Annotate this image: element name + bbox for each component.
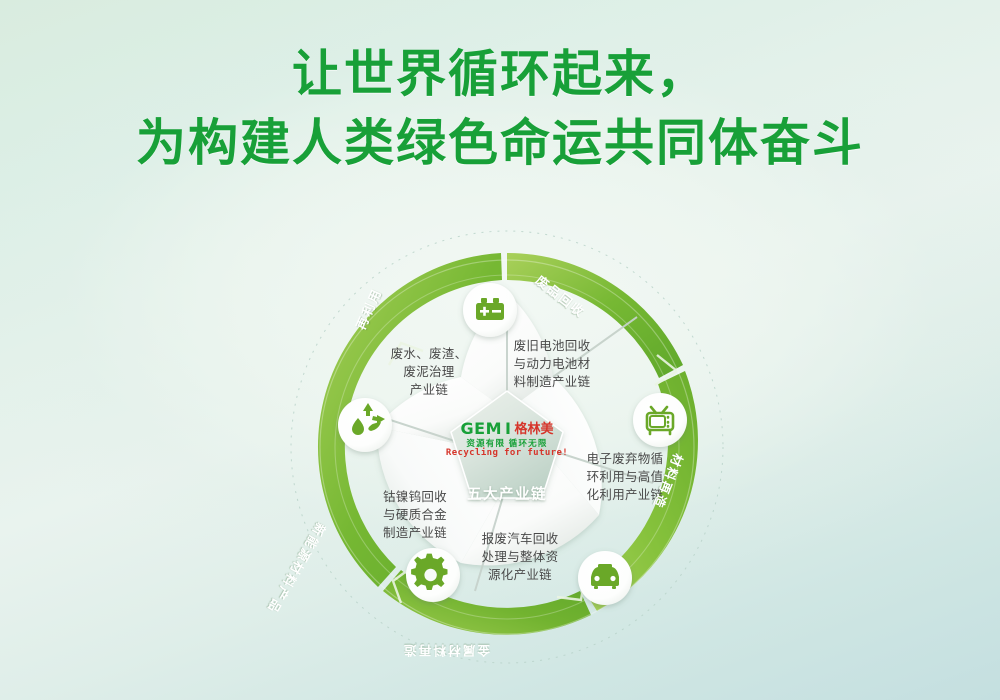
logo-gem-mark: GEM bbox=[461, 421, 502, 437]
page-title-line-2: 为构建人类绿色命运共同体奋斗 bbox=[0, 113, 1000, 174]
industry-chain-label-battery: 废旧电池回收 与动力电池材 料制造产业链 bbox=[500, 337, 604, 391]
icon-circle-recycle-water[interactable] bbox=[338, 398, 392, 452]
logo-wordmark-row: GEMI 格林美 bbox=[445, 420, 569, 437]
ring-label-remanufacture: 金属材料再造 bbox=[402, 642, 490, 661]
logo-slogan: 资源有限 循环无限 bbox=[445, 439, 569, 448]
icon-circle-battery[interactable] bbox=[463, 283, 517, 337]
logo-slogan-english: Recycling for future! bbox=[445, 449, 569, 459]
logo-chinese-name: 格林美 bbox=[514, 422, 553, 435]
page-title-line-1: 让世界循环起来， bbox=[0, 44, 1000, 105]
circular-industry-chain-diagram: 废旧电池回收 与动力电池材 料制造产业链 电子废弃物循 环利用与高值 化利用产业… bbox=[285, 215, 725, 680]
page-title: 让世界循环起来， 为构建人类绿色命运共同体奋斗 bbox=[0, 44, 1000, 174]
industry-chain-label-vehicle: 报废汽车回收 处理与整体资 源化产业链 bbox=[470, 530, 570, 584]
industry-chain-label-water: 废水、废渣、 废泥治理 产业链 bbox=[381, 345, 477, 399]
gear-icon bbox=[411, 554, 447, 590]
center-caption: 五大产业链 bbox=[445, 483, 569, 504]
icon-circle-car[interactable] bbox=[578, 551, 632, 605]
icon-circle-background-television bbox=[633, 393, 687, 447]
logo-gem-accent: I bbox=[505, 421, 511, 437]
icon-circle-background-recycle-water bbox=[338, 398, 392, 452]
icon-circle-television[interactable] bbox=[633, 393, 687, 447]
icon-circle-gear[interactable] bbox=[406, 548, 460, 602]
